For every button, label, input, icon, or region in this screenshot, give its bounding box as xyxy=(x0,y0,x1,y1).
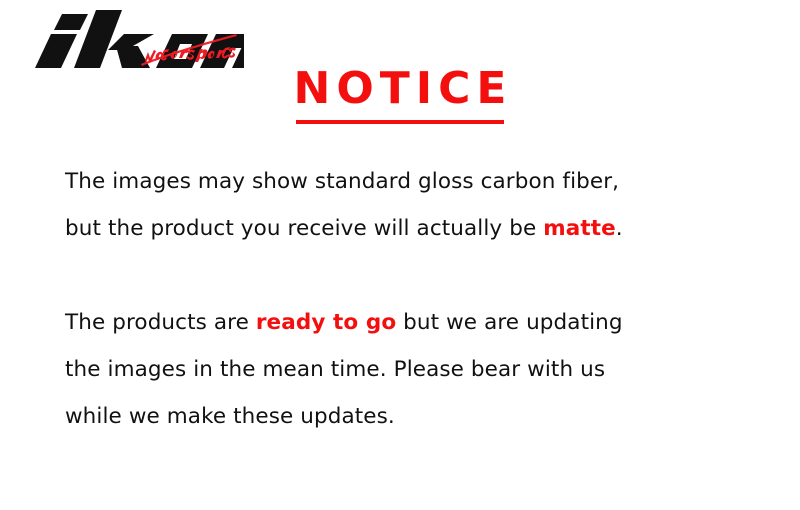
notice-heading-block: NOTICE xyxy=(0,64,800,124)
notice-line: the images in the mean time. Please bear… xyxy=(65,346,765,393)
brand-logo xyxy=(4,6,244,68)
notice-text: The images may show standard gloss carbo… xyxy=(65,169,619,194)
notice-text: but we are updating xyxy=(396,310,622,335)
highlighted-text: matte xyxy=(543,216,616,241)
notice-body: The images may show standard gloss carbo… xyxy=(65,158,765,440)
notice-line: The images may show standard gloss carbo… xyxy=(65,158,765,205)
notice-text: . xyxy=(616,216,623,241)
notice-line: The products are ready to go but we are … xyxy=(65,299,765,346)
notice-paragraph-one: The images may show standard gloss carbo… xyxy=(65,158,765,252)
ikon-motorsports-logo-icon xyxy=(4,6,244,68)
notice-text: while we make these updates. xyxy=(65,404,395,429)
notice-text: The products are xyxy=(65,310,256,335)
notice-line: while we make these updates. xyxy=(65,393,765,440)
highlighted-text: ready to go xyxy=(256,310,396,335)
page-title: NOTICE xyxy=(288,64,513,118)
notice-paragraph-two: The products are ready to go but we are … xyxy=(65,299,765,440)
notice-text: the images in the mean time. Please bear… xyxy=(65,357,605,382)
notice-line: but the product you receive will actuall… xyxy=(65,205,765,252)
title-underline xyxy=(296,120,504,124)
notice-text: but the product you receive will actuall… xyxy=(65,216,543,241)
